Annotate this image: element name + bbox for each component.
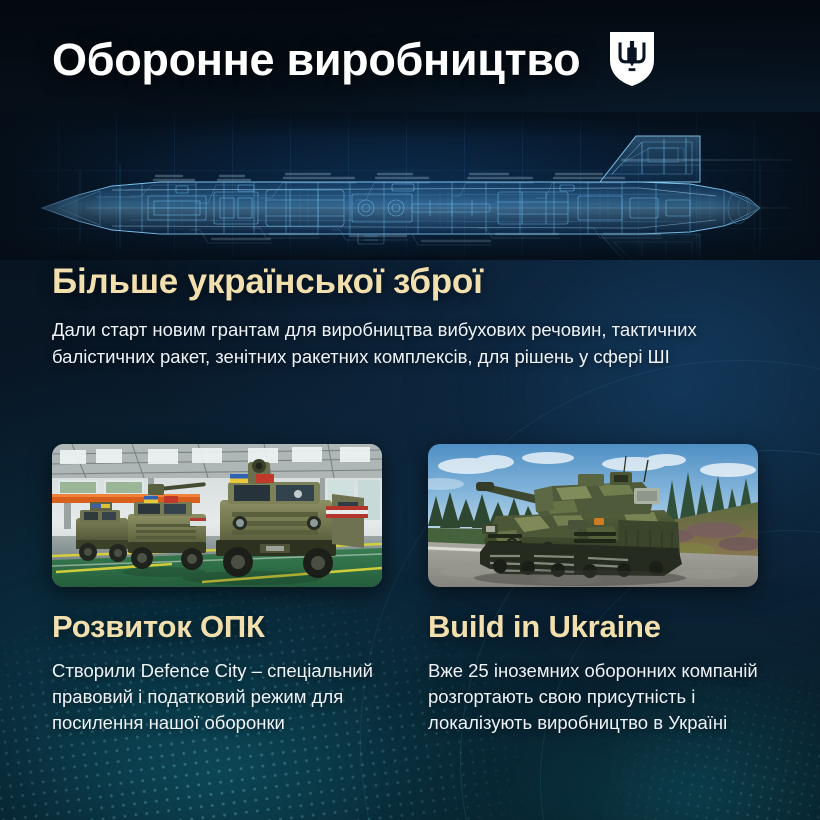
missile-blueprint-image bbox=[0, 112, 820, 260]
photo-military-trucks-factory bbox=[52, 444, 382, 587]
page-title: Оборонне виробництво bbox=[52, 37, 580, 82]
card-build-in-ukraine: Build in Ukraine Вже 25 іноземних оборон… bbox=[428, 444, 758, 736]
lead-body: Дали старт новим грантам для виробництва… bbox=[52, 316, 768, 370]
card-opk-development: Розвиток ОПК Створили Defence City – спе… bbox=[52, 444, 382, 736]
card-body: Вже 25 іноземних оборонних компаній розг… bbox=[428, 658, 758, 736]
lead-headline: Більше української зброї bbox=[52, 262, 768, 302]
card-title: Build in Ukraine bbox=[428, 609, 758, 645]
lead-section: Більше української зброї Дали старт нови… bbox=[52, 262, 768, 370]
photo-ifv-cv90-on-road bbox=[428, 444, 758, 587]
cards-row: Розвиток ОПК Створили Defence City – спе… bbox=[0, 444, 820, 736]
card-body: Створили Defence City – спеціальний прав… bbox=[52, 658, 382, 736]
ukraine-mod-trident-shield-icon bbox=[608, 30, 656, 88]
header: Оборонне виробництво bbox=[0, 0, 820, 118]
blueprint-edge-fade bbox=[0, 112, 820, 260]
card-title: Розвиток ОПК bbox=[52, 609, 382, 645]
